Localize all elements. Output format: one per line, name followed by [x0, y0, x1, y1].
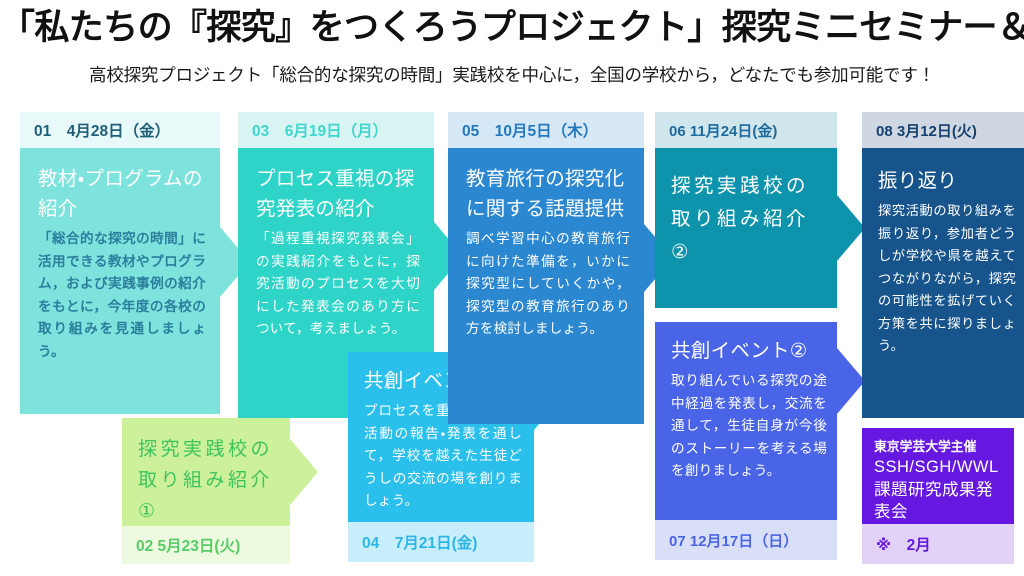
card-body: 探究活動の取り組みを振り返り，参加者どうしが学校や県を越えてつながりながら，探究…	[878, 200, 1016, 358]
card-body: 調べ学習中心の教育旅行に向けた準備を，いかに探究型にしていくかや，探究型の教育旅…	[466, 228, 630, 341]
card-body: 「総合的な探究の時間」に活用できる教材やプログラム，および実践事例の紹介をもとに…	[38, 228, 206, 363]
date-tab-08: 08 3月12日(火)	[862, 112, 1024, 148]
card-title: 探究実践校の取り組み紹介①	[138, 434, 280, 527]
session-card-01[interactable]: 教材・プログラムの紹介 「総合的な探究の時間」に活用できる教材やプログラム，およ…	[20, 148, 220, 414]
page-subtitle: 高校探究プロジェクト「総合的な探究の時間」実践校を中心に，全国の学校から，どなた…	[0, 62, 1024, 88]
card-title: 探究実践校の取り組み紹介②	[671, 170, 827, 269]
card-title: 共創イベント②	[671, 336, 827, 366]
page-title: 「私たちの『探究』をつくろうプロジェクト」探究ミニセミナー＆交流会	[0, 6, 1024, 50]
infographic-canvas: 「私たちの『探究』をつくろうプロジェクト」探究ミニセミナー＆交流会 高校探究プロ…	[0, 0, 1024, 576]
card-content: 教材・プログラムの紹介 「総合的な探究の時間」に活用できる教材やプログラム，およ…	[20, 148, 220, 414]
session-card-08[interactable]: 振り返り 探究活動の取り組みを振り返り，参加者どうしが学校や県を越えてつながりな…	[862, 148, 1024, 418]
card-content: 探究実践校の取り組み紹介①	[122, 418, 290, 526]
date-tab-07: 07 12月17日（日）	[655, 520, 837, 560]
session-card-05[interactable]: 教育旅行の探究化に関する話題提供 調べ学習中心の教育旅行に向けた準備を，いかに探…	[448, 148, 644, 424]
card-title: プロセス重視の探究発表の紹介	[256, 164, 420, 224]
arrow-right-icon	[837, 348, 865, 414]
session-card-09[interactable]: 東京学芸大学主催 SSH/SGH/WWL課題研究成果発表会	[862, 428, 1014, 524]
card-content: 東京学芸大学主催 SSH/SGH/WWL課題研究成果発表会	[862, 428, 1014, 524]
arrow-right-icon	[290, 439, 318, 505]
card-title: SSH/SGH/WWL課題研究成果発表会	[874, 456, 1006, 524]
card-title: 教育旅行の探究化に関する話題提供	[466, 164, 630, 224]
date-tab-09: ※ 2月	[862, 524, 1014, 564]
card-title: 教材・プログラムの紹介	[38, 164, 206, 224]
card-content: 共創イベント② 取り組んでいる探究の途中経過を発表し，交流を通して，生徒自身が今…	[655, 322, 837, 520]
session-card-06[interactable]: 探究実践校の取り組み紹介②	[655, 148, 837, 308]
card-body: 取り組んでいる探究の途中経過を発表し，交流を通して，生徒自身が今後のストーリーを…	[671, 370, 827, 483]
session-card-02[interactable]: 探究実践校の取り組み紹介①	[122, 418, 290, 526]
date-tab-03: 03 6月19日（月）	[238, 112, 434, 148]
date-tab-01: 01 4月28日（金）	[20, 112, 220, 148]
session-card-07[interactable]: 共創イベント② 取り組んでいる探究の途中経過を発表し，交流を通して，生徒自身が今…	[655, 322, 837, 520]
card-host-label: 東京学芸大学主催	[874, 438, 1006, 456]
date-tab-02: 02 5月23日(火)	[122, 526, 290, 564]
card-content: 振り返り 探究活動の取り組みを振り返り，参加者どうしが学校や県を越えてつながりな…	[862, 148, 1024, 418]
date-tab-04: 04 7月21日(金)	[348, 522, 534, 562]
card-content: 教育旅行の探究化に関する話題提供 調べ学習中心の教育旅行に向けた準備を，いかに探…	[448, 148, 644, 424]
header: 「私たちの『探究』をつくろうプロジェクト」探究ミニセミナー＆交流会 高校探究プロ…	[0, 0, 1024, 104]
card-content: 探究実践校の取り組み紹介②	[655, 148, 837, 308]
date-tab-06: 06 11月24日(金)	[655, 112, 837, 148]
card-body: 「過程重視探究発表会」の実践紹介をもとに，探究活動のプロセスを大切にした発表会の…	[256, 228, 420, 341]
card-title: 振り返り	[878, 166, 1016, 196]
date-tab-05: 05 10月5日（木）	[448, 112, 644, 148]
arrow-right-icon	[837, 195, 865, 261]
